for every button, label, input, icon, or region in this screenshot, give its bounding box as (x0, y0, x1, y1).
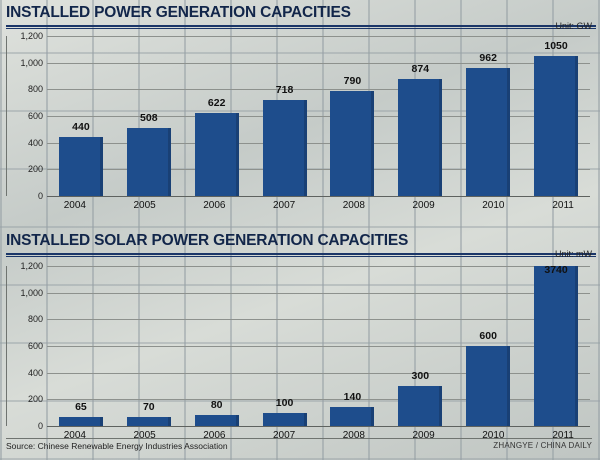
grid-line (47, 116, 590, 117)
source-note: Source: Chinese Renewable Energy Industr… (6, 441, 228, 451)
grid-line (47, 346, 590, 347)
x-axis-labels-solar: 20042005200620072008200920102011 (40, 430, 598, 441)
x-axis-tick-label: 2009 (389, 430, 459, 441)
credit-note: ZHANGYE / CHINA DAILY (493, 441, 592, 450)
grid-line (47, 36, 590, 37)
y-axis-tick-label: 800 (28, 314, 43, 324)
x-axis-tick-label: 2010 (459, 200, 529, 211)
x-axis-labels-power: 20042005200620072008200920102011 (40, 200, 598, 211)
y-axis-tick-label: 200 (28, 164, 43, 174)
plot-area-solar: 02004006008001,0001,200 6570801001403006… (6, 266, 592, 426)
infographic: INSTALLED POWER GENERATION CAPACITIES Un… (0, 0, 600, 460)
grid-line (47, 319, 590, 320)
x-axis-tick-label: 2008 (319, 430, 389, 441)
x-axis-tick-label: 2006 (180, 430, 250, 441)
x-axis-tick-label: 2011 (528, 430, 598, 441)
y-axis-tick-label: 1,200 (20, 31, 43, 41)
footer-rule (6, 438, 592, 439)
grid-line (47, 373, 590, 374)
x-axis-tick-label: 2009 (389, 200, 459, 211)
grid-line (47, 63, 590, 64)
y-axis-tick-label: 400 (28, 368, 43, 378)
y-axis-tick-label: 600 (28, 111, 43, 121)
grid-line (47, 293, 590, 294)
plot-area-power: 02004006008001,0001,200 4405086227187908… (6, 36, 592, 196)
x-axis-tick-label: 2005 (110, 200, 180, 211)
x-axis-tick-label: 2004 (40, 430, 110, 441)
x-axis-tick-label: 2006 (180, 200, 250, 211)
y-axis-tick-label: 200 (28, 394, 43, 404)
x-axis-tick-label: 2004 (40, 200, 110, 211)
gridlines-power: 02004006008001,0001,200 (47, 36, 590, 196)
title-rule-thin (6, 28, 596, 29)
x-axis-tick-label: 2011 (528, 200, 598, 211)
grid-line (47, 266, 590, 267)
page-title: INSTALLED POWER GENERATION CAPACITIES (0, 0, 600, 25)
grid-line (47, 143, 590, 144)
title-rule-thin-solar (6, 256, 596, 257)
grid-line (47, 399, 590, 400)
section-title-solar: INSTALLED SOLAR POWER GENERATION CAPACIT… (0, 228, 600, 253)
grid-line (47, 169, 590, 170)
unit-label-power: Unit: GW (555, 21, 592, 31)
y-axis-tick-label: 1,000 (20, 288, 43, 298)
x-axis-tick-label: 2005 (110, 430, 180, 441)
gridlines-solar: 02004006008001,0001,200 (47, 266, 590, 426)
title-rule (6, 25, 596, 27)
y-axis-tick-label: 1,000 (20, 58, 43, 68)
unit-label-solar: Unit: mW (555, 249, 592, 259)
y-axis-tick-label: 800 (28, 84, 43, 94)
x-axis-tick-label: 2008 (319, 200, 389, 211)
y-axis-tick-label: 1,200 (20, 261, 43, 271)
x-axis-tick-label: 2007 (249, 430, 319, 441)
grid-line (47, 426, 590, 427)
y-axis-tick-label: 400 (28, 138, 43, 148)
title-rule-solar (6, 253, 596, 255)
x-axis-tick-label: 2010 (459, 430, 529, 441)
y-axis-tick-label: 600 (28, 341, 43, 351)
x-axis-tick-label: 2007 (249, 200, 319, 211)
grid-line (47, 196, 590, 197)
grid-line (47, 89, 590, 90)
